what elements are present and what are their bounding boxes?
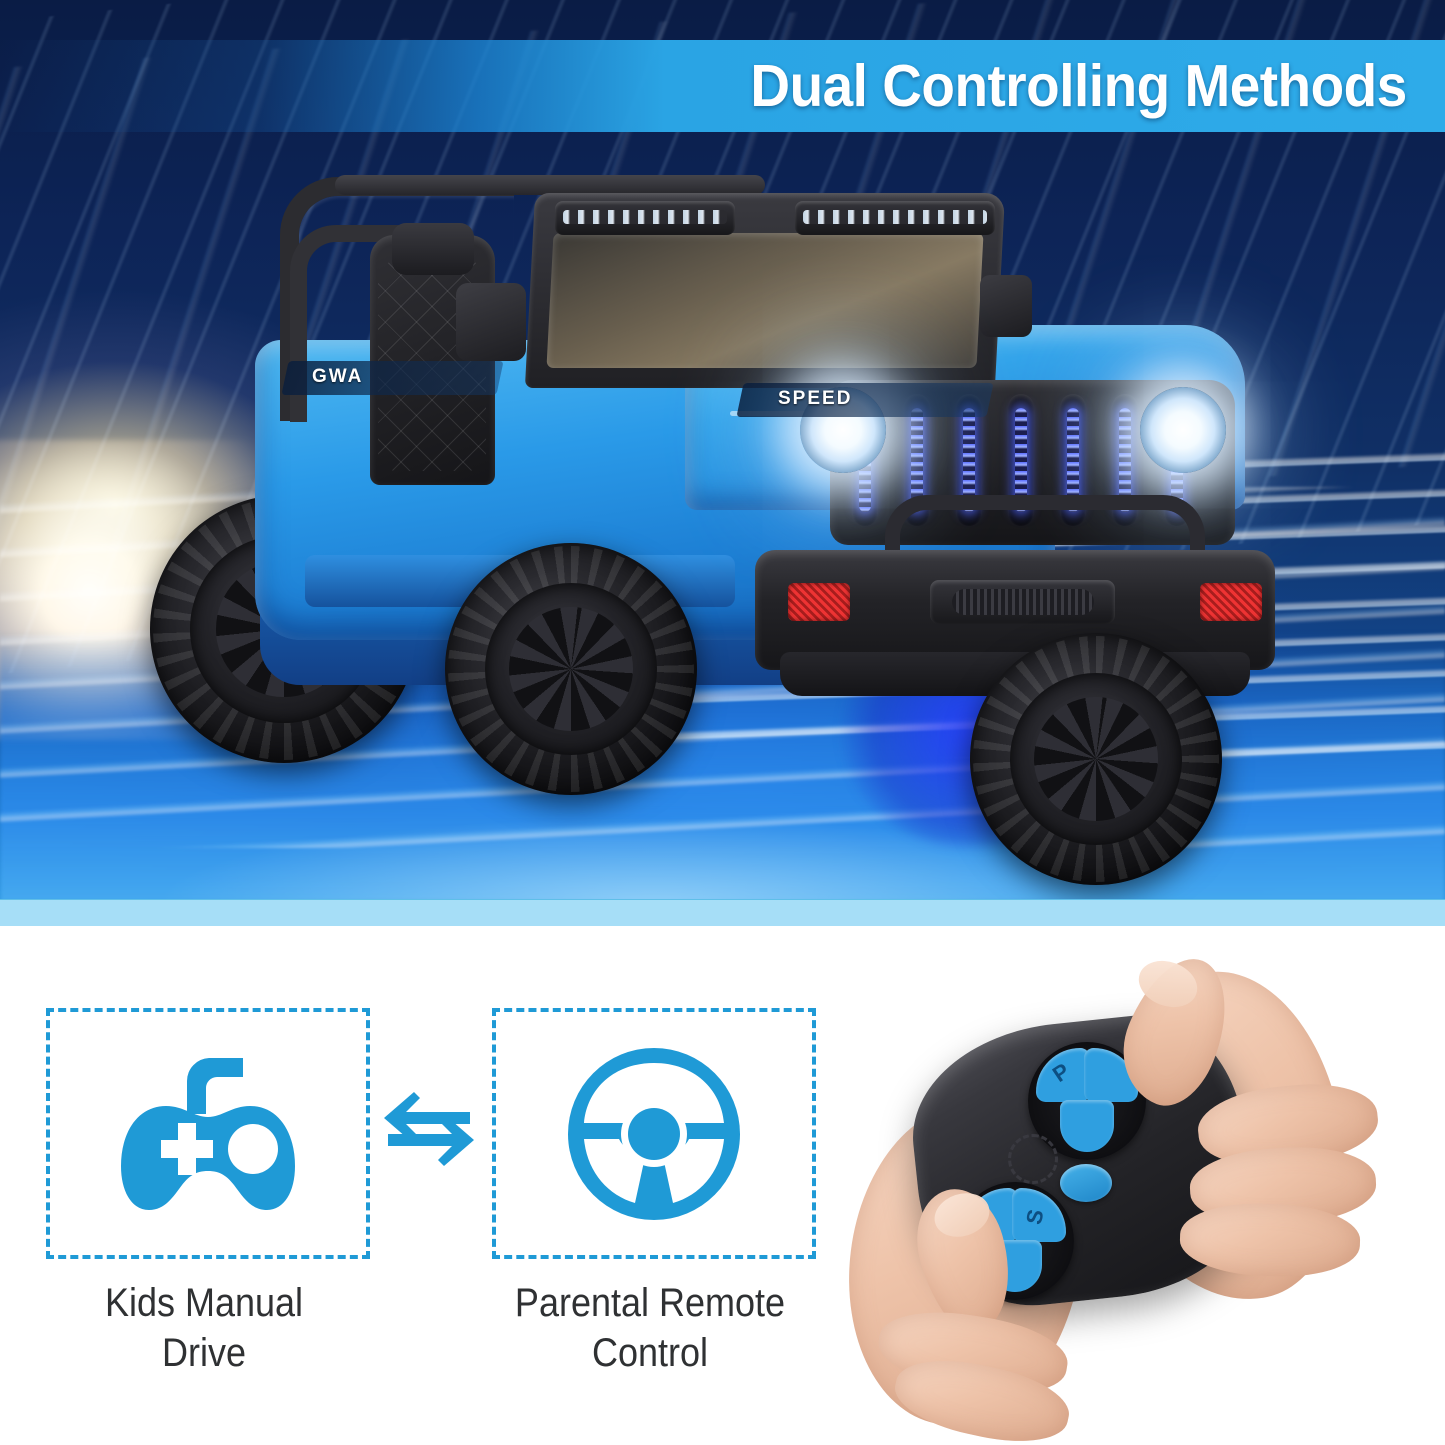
option-box-manual-drive[interactable] <box>46 1008 370 1259</box>
light-bar-leds <box>803 210 987 224</box>
caption-remote-control: Parental Remote Control <box>488 1278 812 1378</box>
gamepad-icon <box>50 1012 366 1255</box>
front-rim <box>1010 673 1182 845</box>
remote-logo-ring-icon <box>1008 1134 1058 1184</box>
controls-section: Kids Manual Drive Parental Remote Contro… <box>0 926 1445 1445</box>
remote-control-photo: P S <box>838 936 1438 1441</box>
remote-horn-button[interactable] <box>1060 1164 1112 1202</box>
bidirectional-arrows-icon <box>380 1086 478 1172</box>
seat-headrest <box>392 223 474 275</box>
bumper-reflector-left <box>788 583 850 621</box>
vehicle-decal-rear: GWA <box>312 366 363 388</box>
mid-rim <box>485 583 657 755</box>
caption-line-1: Kids Manual <box>42 1278 366 1328</box>
caption-manual-drive: Kids Manual Drive <box>42 1278 366 1378</box>
roof-light-bar-right <box>795 201 995 235</box>
roof-light-bar-left <box>555 201 735 235</box>
section-divider <box>0 900 1445 926</box>
hood-decal-plate <box>736 383 993 417</box>
winch-drum <box>952 589 1094 615</box>
caption-line-2: Control <box>488 1328 812 1378</box>
side-mirror-left <box>456 283 526 361</box>
roll-bar-top <box>335 175 765 195</box>
hero-photo: GWA SPEED Dual Controlling Methods <box>0 0 1445 902</box>
caption-line-1: Parental Remote <box>488 1278 812 1328</box>
headlight-right <box>1140 387 1226 473</box>
side-mirror-right <box>980 275 1032 337</box>
page-title: Dual Controlling Methods <box>751 44 1407 128</box>
bumper-reflector-right <box>1200 583 1262 621</box>
option-box-remote-control[interactable] <box>492 1008 816 1259</box>
ride-on-jeep-illustration: GWA SPEED <box>140 165 1260 885</box>
light-bar-leds <box>563 210 727 224</box>
steering-wheel-icon <box>496 1012 812 1255</box>
product-feature-page: GWA SPEED Dual Controlling Methods <box>0 0 1445 1445</box>
caption-line-2: Drive <box>42 1328 366 1378</box>
windshield-glass <box>546 233 983 368</box>
vehicle-decal-hood: SPEED <box>778 388 852 410</box>
remote-button-reverse[interactable] <box>1060 1100 1114 1152</box>
